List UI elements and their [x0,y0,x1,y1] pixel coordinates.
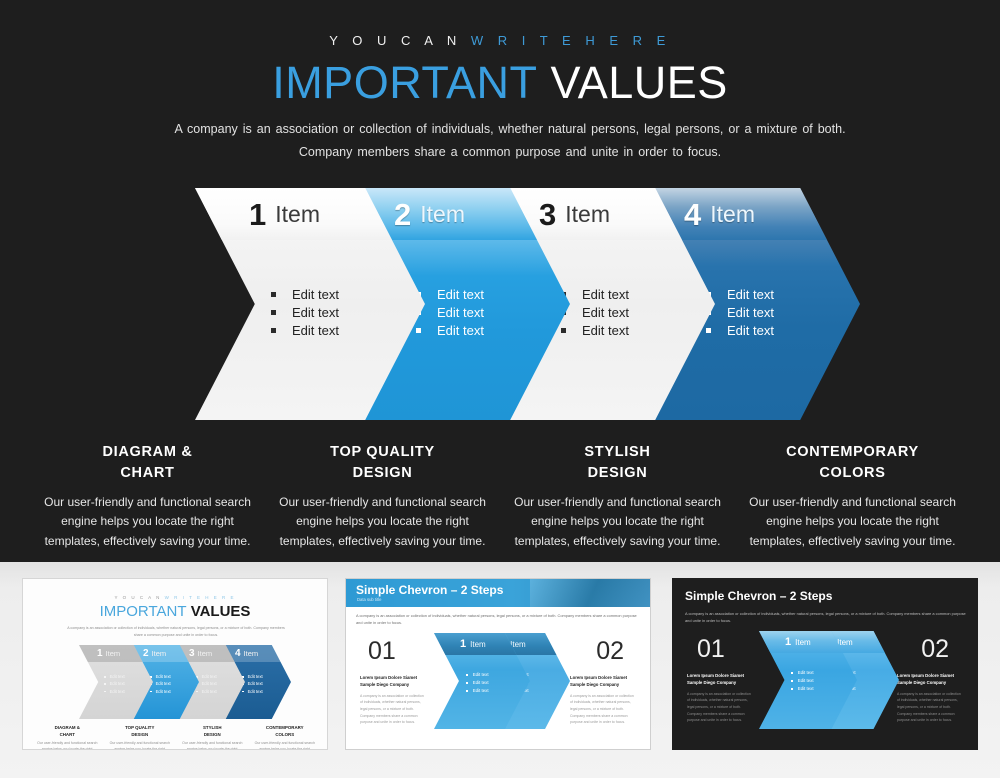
thumb3-chevron-label: Item [795,638,811,647]
list-item[interactable]: Edit text [706,321,826,339]
list-item: Edit text [466,679,489,687]
caption-title: STYLISH DESIGN [514,442,721,484]
thumbnail-slide-3[interactable]: Simple Chevron – 2 Steps A company is an… [672,578,978,750]
thumb1-caption-title: DIAGRAM & CHART [34,725,101,738]
bullet-text: Edit text [727,287,774,302]
bullet-square-icon [416,328,421,333]
page-title: IMPORTANT VALUES [0,57,1000,109]
caption-title-line2: CHART [44,463,251,484]
bullet-text: Edit text [437,323,484,338]
thumb1-bullet-list: Edit text Edit text Edit text [242,673,263,695]
chevron-diagram: 1 Item Edit text Edit text Edit text 2 I… [195,188,810,420]
thumb1-eyebrow-accent: W R I T E H E R E [165,595,236,600]
thumbnail-slide-2[interactable]: Simple Chevron – 2 Steps Data sub title … [345,578,651,750]
list-item[interactable]: Edit text [416,303,536,321]
list-item: Edit text [196,680,217,687]
thumb1-chevron-diagram: 1 Item Edit text Edit text Edit text 2 I… [79,645,275,719]
caption-block-1: DIAGRAM & CHART Our user-friendly and fu… [30,442,265,551]
chevron-number: 2 [394,199,411,230]
list-item[interactable]: Edit text [271,303,391,321]
thumb1-title: IMPORTANT VALUES [23,603,327,620]
caption-title: TOP QUALITY DESIGN [279,442,486,484]
chevron-number: 4 [684,199,701,230]
bullet-square-icon [706,328,711,333]
thumb1-caption-line1: DIAGRAM & [34,725,101,732]
caption-body: Our user-friendly and functional search … [44,493,251,551]
list-item: Edit text [791,669,814,677]
list-item: Edit text [791,677,814,685]
caption-body: Our user-friendly and functional search … [749,493,956,551]
thumb1-chevron-number: 2 [143,648,149,659]
thumb3-side-right-heading: Lorem Ipsum Dolore Siamet Sample Diego C… [897,673,963,687]
thumb1-chevron-label: Item [106,649,121,658]
list-item[interactable]: Edit text [561,285,681,303]
caption-title-line2: DESIGN [279,463,486,484]
list-item: Edit text [150,673,171,680]
bullet-text: Edit text [727,305,774,320]
list-item: Edit text [242,673,263,680]
caption-title: CONTEMPORARY COLORS [749,442,956,484]
caption-title-line1: CONTEMPORARY [749,442,956,463]
thumb1-chevron-label: Item [152,649,167,658]
caption-body: Our user-friendly and functional search … [514,493,721,551]
caption-body: Our user-friendly and functional search … [279,493,486,551]
list-item[interactable]: Edit text [561,303,681,321]
thumb2-bullet-list: Edit text Edit text Edit text [466,671,489,695]
page-title-plain: VALUES [551,57,728,108]
thumb1-caption-row: DIAGRAM & CHART Our user-friendly and fu… [31,725,321,750]
bullet-text: Edit text [292,287,339,302]
list-item: Edit text [104,673,125,680]
caption-title-line1: DIAGRAM & [44,442,251,463]
thumb2-side-right-heading: Lorem Ipsum Dolore Siamet Sample Diego C… [570,675,636,689]
thumb1-caption-3: STYLISH DESIGN Our user-friendly and fun… [176,725,249,750]
eyebrow-text-light: Y O U C A N [329,33,462,48]
slide-eyebrow: Y O U C A N W R I T E H E R E [0,33,1000,48]
list-item: Edit text [242,688,263,695]
thumb3-side-right: Lorem Ipsum Dolore Siamet Sample Diego C… [897,673,963,724]
bullet-text: Edit text [582,287,629,302]
list-item: Edit text [104,688,125,695]
bullet-square-icon [271,292,276,297]
thumb3-chevron-number: 1 [785,636,791,648]
thumbnail-strip: Y O U C A N W R I T E H E R E IMPORTANT … [0,562,1000,778]
thumb1-chevron-label: Item [198,649,213,658]
bullet-square-icon [271,310,276,315]
list-item: Edit text [196,688,217,695]
thumb3-number-right: 02 [921,635,949,664]
bullet-text: Edit text [437,287,484,302]
page-root: Y O U C A N W R I T E H E R E IMPORTANT … [0,0,1000,778]
bullet-text: Edit text [292,323,339,338]
thumb1-eyebrow-light: Y O U C A N [114,595,161,600]
thumb2-number-right: 02 [596,637,624,666]
thumb1-caption-line1: STYLISH [179,725,246,732]
thumb1-caption-4: CONTEMPORARY COLORS Our user-friendly an… [249,725,322,750]
thumb2-chevron-label: Item [470,640,486,649]
page-title-accent: IMPORTANT [272,57,537,108]
list-item[interactable]: Edit text [706,285,826,303]
thumb2-banner-facet-decoration [530,579,650,607]
thumb2-side-right-body: A company is an association or collectio… [570,693,636,726]
thumb2-side-left-heading: Lorem Ipsum Dolore Siamet Sample Diego C… [360,675,426,689]
list-item: Edit text [466,687,489,695]
chevron-number: 3 [539,199,556,230]
thumb2-subtitle: Data sub title [357,597,381,602]
main-slide: Y O U C A N W R I T E H E R E IMPORTANT … [0,0,1000,562]
thumb1-caption-body: Our user-friendly and functional search … [179,740,246,750]
list-item[interactable]: Edit text [416,321,536,339]
thumb1-title-plain: VALUES [191,603,251,620]
list-item: Edit text [242,680,263,687]
chevron-label: Item [420,203,465,226]
thumb1-caption-line2: DESIGN [107,732,174,739]
thumb1-caption-title: STYLISH DESIGN [179,725,246,738]
thumb1-caption-line2: COLORS [252,732,319,739]
list-item[interactable]: Edit text [561,321,681,339]
thumb1-chevron-number: 4 [235,648,241,659]
list-item[interactable]: Edit text [271,321,391,339]
chevron-bullet-list: Edit text Edit text Edit text [561,285,681,339]
list-item: Edit text [466,671,489,679]
chevron-label: Item [275,203,320,226]
list-item: Edit text [196,673,217,680]
thumb1-caption-line2: DESIGN [179,732,246,739]
bullet-text: Edit text [582,323,629,338]
list-item: Edit text [150,680,171,687]
thumb1-caption-line1: TOP QUALITY [107,725,174,732]
bullet-square-icon [561,328,566,333]
bullet-square-icon [271,328,276,333]
thumb2-number-left: 01 [368,637,396,666]
list-item[interactable]: Edit text [271,285,391,303]
bullet-text: Edit text [292,305,339,320]
thumbnail-slide-1[interactable]: Y O U C A N W R I T E H E R E IMPORTANT … [22,578,328,750]
thumb1-subtitle: A company is an association or collectio… [67,625,285,639]
thumb1-caption-line2: CHART [34,732,101,739]
thumb1-caption-body: Our user-friendly and functional search … [107,740,174,750]
caption-title-line2: DESIGN [514,463,721,484]
caption-block-3: STYLISH DESIGN Our user-friendly and fun… [500,442,735,551]
caption-block-2: TOP QUALITY DESIGN Our user-friendly and… [265,442,500,551]
chevron-label: Item [710,203,755,226]
slide-subtitle: A company is an association or collectio… [150,118,870,164]
thumb2-side-left-body: A company is an association or collectio… [360,693,426,726]
thumb3-intro: A company is an association or collectio… [685,610,969,625]
bullet-text: Edit text [437,305,484,320]
thumb3-bullet-list: Edit text Edit text Edit text [791,669,814,693]
eyebrow-text-accent: W R I T E H E R E [471,33,671,48]
caption-title-line2: COLORS [749,463,956,484]
thumb1-chevron-number: 1 [97,648,103,659]
chevron-bullet-list: Edit text Edit text Edit text [271,285,391,339]
bullet-text: Edit text [582,305,629,320]
thumb1-eyebrow: Y O U C A N W R I T E H E R E [23,595,327,600]
chevron-label: Item [565,203,610,226]
thumb1-caption-title: CONTEMPORARY COLORS [252,725,319,738]
thumb3-number-left: 01 [697,635,725,664]
thumb1-bullet-list: Edit text Edit text Edit text [104,673,125,695]
thumb3-chevron-label: Item [837,638,853,647]
thumb1-caption-body: Our user-friendly and functional search … [34,740,101,750]
thumb3-chevron-diagram: 1 Item Edit text Edit text Edit text 2 I… [759,631,891,729]
thumb2-side-left: Lorem Ipsum Dolore Siamet Sample Diego C… [360,675,426,726]
caption-title-line1: STYLISH [514,442,721,463]
thumb1-bullet-list: Edit text Edit text Edit text [196,673,217,695]
thumb1-chevron-number: 3 [189,648,195,659]
list-item: Edit text [150,688,171,695]
thumb1-caption-1: DIAGRAM & CHART Our user-friendly and fu… [31,725,104,750]
thumb1-title-accent: IMPORTANT [100,603,187,620]
list-item: Edit text [791,685,814,693]
thumb2-chevron-label: Item [510,640,526,649]
chevron-number: 1 [249,199,266,230]
list-item[interactable]: Edit text [706,303,826,321]
thumb2-intro: A company is an association or collectio… [356,612,644,626]
chevron-bullet-list: Edit text Edit text Edit text [416,285,536,339]
thumb1-bullet-list: Edit text Edit text Edit text [150,673,171,695]
chevron-bullet-list: Edit text Edit text Edit text [706,285,826,339]
bullet-text: Edit text [727,323,774,338]
thumb2-chevron-number: 1 [460,638,466,650]
caption-title: DIAGRAM & CHART [44,442,251,484]
thumb3-side-left: Lorem Ipsum Dolore Siamet Sample Diego C… [687,673,753,724]
thumb1-chevron-label: Item [244,649,259,658]
thumb3-side-left-body: A company is an association or collectio… [687,691,753,724]
thumb2-chevron-diagram: 1 Item Edit text Edit text Edit text 2 I… [434,633,564,729]
thumb3-side-left-heading: Lorem Ipsum Dolore Siamet Sample Diego C… [687,673,753,687]
thumb3-side-right-body: A company is an association or collectio… [897,691,963,724]
thumb1-caption-body: Our user-friendly and functional search … [252,740,319,750]
caption-block-4: CONTEMPORARY COLORS Our user-friendly an… [735,442,970,551]
list-item[interactable]: Edit text [416,285,536,303]
caption-title-line1: TOP QUALITY [279,442,486,463]
thumb1-caption-line1: CONTEMPORARY [252,725,319,732]
thumb3-title: Simple Chevron – 2 Steps [685,589,832,603]
thumb1-caption-title: TOP QUALITY DESIGN [107,725,174,738]
thumb1-caption-2: TOP QUALITY DESIGN Our user-friendly and… [104,725,177,750]
caption-row: DIAGRAM & CHART Our user-friendly and fu… [30,442,970,551]
thumb2-title: Simple Chevron – 2 Steps [356,583,503,597]
list-item: Edit text [104,680,125,687]
thumb2-side-right: Lorem Ipsum Dolore Siamet Sample Diego C… [570,675,636,726]
